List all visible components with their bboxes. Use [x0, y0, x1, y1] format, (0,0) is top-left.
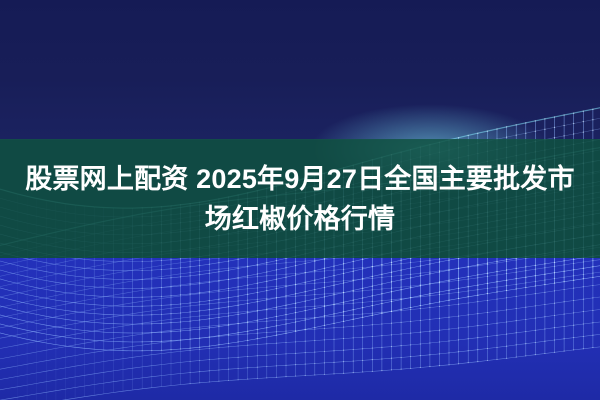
headline-line-2: 场红椒价格行情 — [205, 200, 395, 238]
headline-line-1: 股票网上配资 2025年9月27日全国主要批发市 — [25, 160, 574, 198]
page-title: 股票网上配资 2025年9月27日全国主要批发市 场红椒价格行情 — [0, 139, 600, 258]
banner-image: 股票网上配资 2025年9月27日全国主要批发市 场红椒价格行情 — [0, 0, 600, 400]
